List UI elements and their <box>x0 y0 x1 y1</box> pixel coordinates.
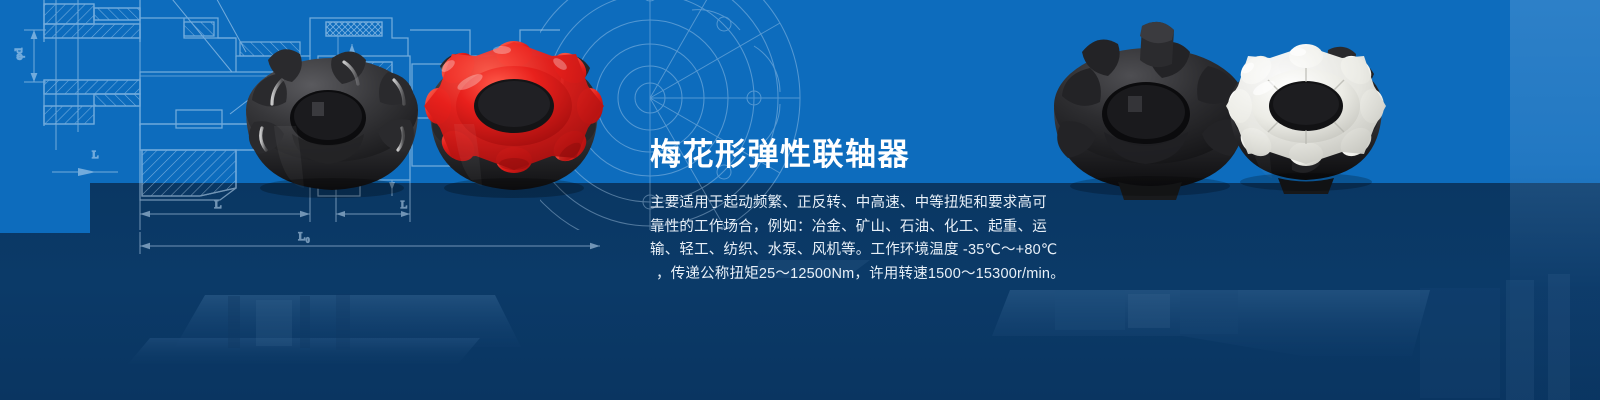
coupling-assembly-white-right <box>1226 44 1386 194</box>
coupling-hub-black-right-group <box>1054 22 1246 200</box>
blueprint-label-L-aux: L <box>92 149 99 161</box>
elastomer-red <box>424 41 604 173</box>
blueprint-label-L: L <box>214 197 221 211</box>
description-line-4: ，传递公称扭矩25～12500Nm，许用转速1500～15300r/min。 <box>650 263 1052 287</box>
page-title: 梅花形弹性联轴器 <box>650 139 910 170</box>
elastomer-white <box>1226 44 1386 166</box>
product-image-right-group <box>1022 0 1392 201</box>
coupling-hub-black-left <box>246 49 418 198</box>
blueprint-label-L0: L₀ <box>298 229 310 243</box>
product-image-left-group <box>222 6 622 216</box>
coupling-assembly-red-right <box>424 41 604 198</box>
description-line-3: 输、轻工、纺织、水泵、风机等。工作环境温度 -35℃～+80℃ <box>650 239 1052 263</box>
blueprint-dim-L0 <box>140 232 600 254</box>
blueprint-section-arrow <box>52 168 118 176</box>
banner-title-wrap: 梅花形弹性联轴器 <box>650 139 910 170</box>
blueprint-shaft-section-top <box>44 0 140 42</box>
product-banner: φd <box>0 0 1600 400</box>
banner-description: 主要适用于起动频繁、正反转、中高速、中等扭矩和要求高可 靠性的工作场合，例如：冶… <box>650 192 1052 286</box>
blueprint-dim-phi-d <box>24 30 46 82</box>
blueprint-label-phi-d: φd <box>13 48 25 60</box>
description-line-1: 主要适用于起动频繁、正反转、中高速、中等扭矩和要求高可 <box>650 192 1052 216</box>
blueprint-shaft-section-bottom <box>44 78 140 126</box>
description-line-2: 靠性的工作场合，例如：冶金、矿山、石油、化工、起重、运 <box>650 216 1052 240</box>
